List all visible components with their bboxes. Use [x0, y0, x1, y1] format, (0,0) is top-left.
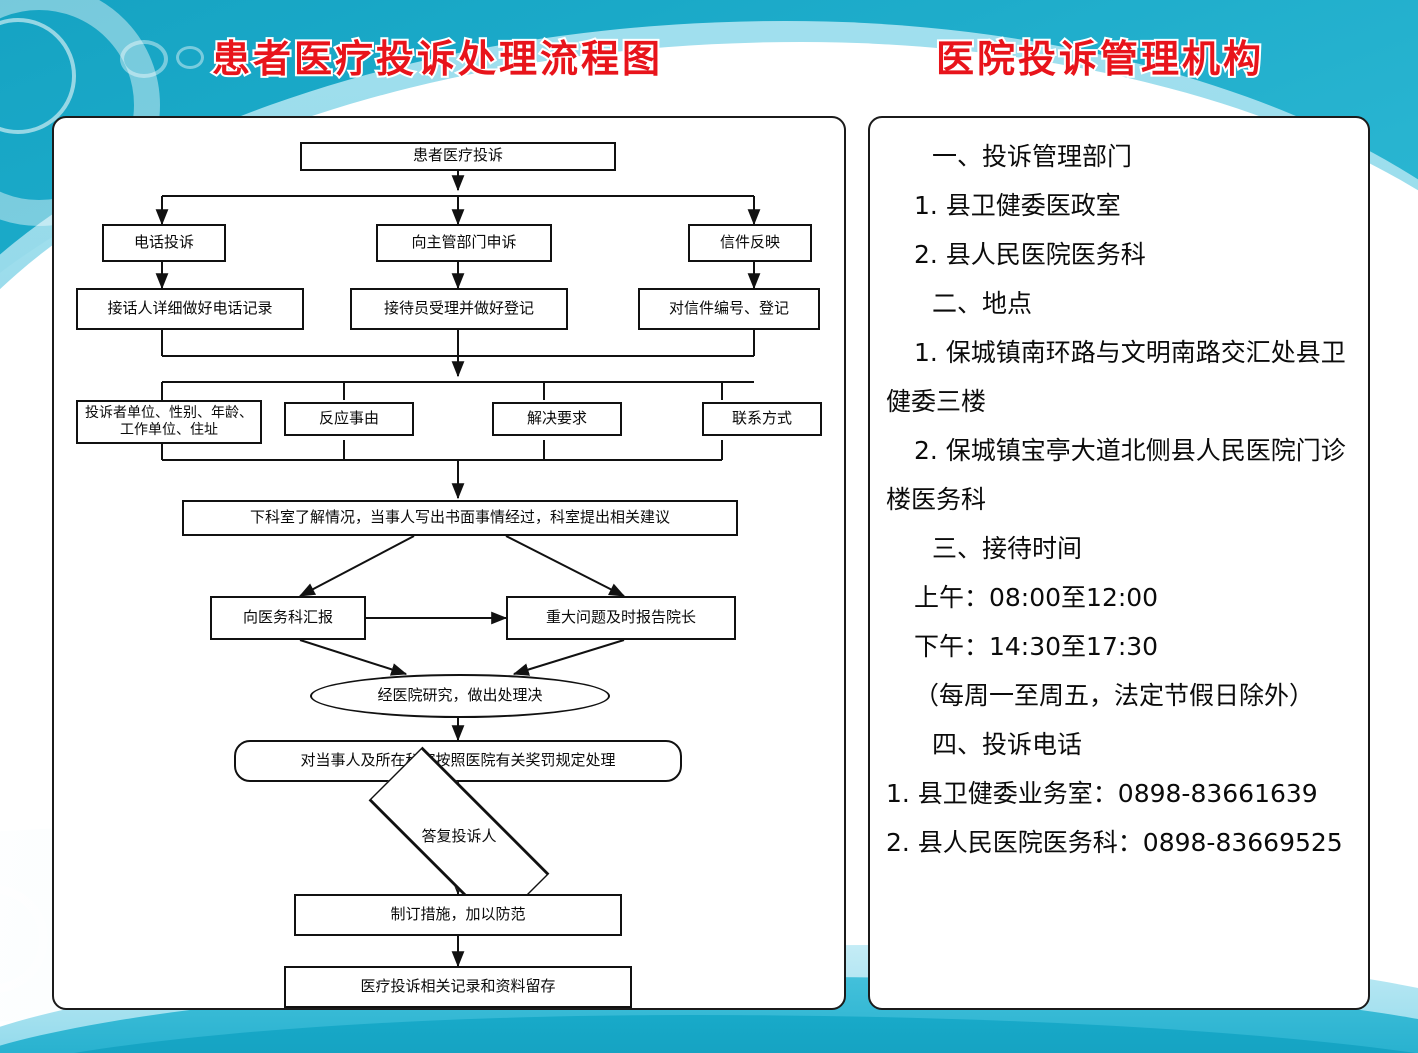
node-reply-complainant[interactable]: 答复投诉人 — [332, 810, 586, 864]
info-line: （每周一至周五，法定节假日除外） — [886, 671, 1350, 720]
node-info-complainant[interactable]: 投诉者单位、性别、年龄、工作单位、住址 — [76, 400, 262, 444]
node-channel-phone[interactable]: 电话投诉 — [102, 224, 226, 262]
info-line: 1. 县卫健委医政室 — [886, 181, 1350, 230]
node-record-department[interactable]: 接待员受理并做好登记 — [350, 288, 568, 330]
info-line: 三、接待时间 — [886, 524, 1350, 573]
flowchart: 患者医疗投诉 电话投诉 向主管部门申诉 信件反映 接话人详细做好电话记录 接待员… — [54, 118, 844, 1008]
info-line: 2. 县人民医院医务科 — [886, 230, 1350, 279]
node-channel-letter[interactable]: 信件反映 — [688, 224, 812, 262]
node-info-reason[interactable]: 反应事由 — [284, 402, 414, 436]
node-archive-records[interactable]: 医疗投诉相关记录和资料留存 — [284, 966, 632, 1008]
node-preventive-measures[interactable]: 制订措施，加以防范 — [294, 894, 622, 936]
info-panel: 一、投诉管理部门1. 县卫健委医政室2. 县人民医院医务科二、地点1. 保城镇南… — [868, 116, 1370, 1010]
page-title-left: 患者医疗投诉处理流程图 — [212, 28, 663, 83]
info-line: 上午：08:00至12:00 — [886, 573, 1350, 622]
node-info-request[interactable]: 解决要求 — [492, 402, 622, 436]
info-line: 下午：14:30至17:30 — [886, 622, 1350, 671]
info-line: 四、投诉电话 — [886, 720, 1350, 769]
node-hospital-decision[interactable]: 经医院研究，做出处理决 — [310, 674, 610, 718]
flowchart-panel: 患者医疗投诉 电话投诉 向主管部门申诉 信件反映 接话人详细做好电话记录 接待员… — [52, 116, 846, 1010]
decorative-ring-small-icon — [120, 40, 168, 78]
decorative-ring-tiny-icon — [176, 46, 204, 69]
info-line: 2. 保城镇宝亭大道北侧县人民医院门诊楼医务科 — [886, 426, 1350, 524]
node-channel-department[interactable]: 向主管部门申诉 — [376, 224, 552, 262]
info-line: 1. 保城镇南环路与文明南路交汇处县卫健委三楼 — [886, 328, 1350, 426]
node-investigate[interactable]: 下科室了解情况，当事人写出书面事情经过，科室提出相关建议 — [182, 500, 738, 536]
node-info-contact[interactable]: 联系方式 — [702, 402, 822, 436]
info-line: 2. 县人民医院医务科：0898-83669525 — [886, 818, 1350, 867]
node-start[interactable]: 患者医疗投诉 — [300, 142, 616, 171]
node-record-letter[interactable]: 对信件编号、登记 — [638, 288, 820, 330]
node-report-medical-dept[interactable]: 向医务科汇报 — [210, 596, 366, 640]
info-line: 一、投诉管理部门 — [886, 132, 1350, 181]
poster-root: 患者医疗投诉处理流程图 医院投诉管理机构 — [0, 0, 1418, 1053]
node-report-director[interactable]: 重大问题及时报告院长 — [506, 596, 736, 640]
node-reply-label: 答复投诉人 — [421, 828, 496, 847]
info-line: 二、地点 — [886, 279, 1350, 328]
page-title-right: 医院投诉管理机构 — [936, 28, 1264, 83]
node-punishment[interactable]: 对当事人及所在科室按照医院有关奖罚规定处理 — [234, 740, 682, 782]
node-record-phone[interactable]: 接话人详细做好电话记录 — [76, 288, 304, 330]
info-list: 一、投诉管理部门1. 县卫健委医政室2. 县人民医院医务科二、地点1. 保城镇南… — [870, 118, 1368, 1008]
info-line: 1. 县卫健委业务室：0898-83661639 — [886, 769, 1350, 818]
